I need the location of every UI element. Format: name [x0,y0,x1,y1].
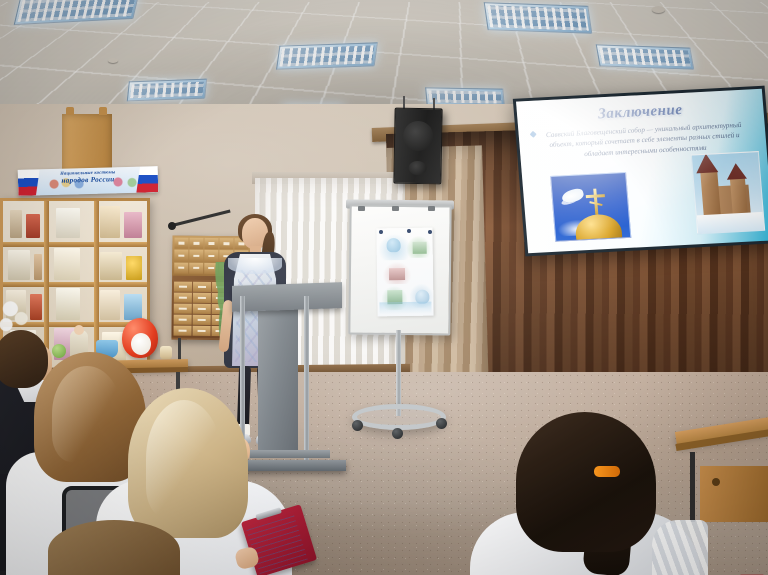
sketch-church [389,268,405,280]
snow-ground [697,212,764,233]
desk-grommet [712,478,720,486]
sketch-dome [387,238,401,252]
catalog-drawer [174,238,188,249]
shelf-item-doll [34,254,42,280]
presentation-slide: Заключение Саввский Благовещенский собор… [516,89,768,253]
shelf-item-card [124,212,142,238]
shelf-item-poster [54,248,80,280]
projection-screen: Заключение Саввский Благовещенский собор… [513,86,768,257]
church-tower-shape [730,177,748,216]
lectern-column [258,308,298,450]
presenter-apron-frill [228,258,282,274]
catalog-drawer [192,326,210,336]
audience-member-5-sleeve [652,520,708,575]
poster-pin [428,230,432,234]
shelf-item-ornament [126,256,142,280]
craft-figure [160,346,172,359]
golden-dome-shape [574,213,623,241]
catalog-drawer [174,282,192,292]
church-roof-shape [726,163,747,180]
catalog-drawer [189,238,203,249]
slide-image-dome [550,172,631,242]
caster-wheel [352,420,363,431]
catalog-drawer [173,326,191,336]
desk-modesty-panel [700,466,768,522]
shelf-item-book [56,208,80,238]
catalog-drawer [174,315,192,325]
catalog-drawer [174,293,192,303]
lectern-foot [250,450,330,458]
microphone-icon [168,222,176,230]
catalog-drawer [193,293,211,303]
watercolour-ground [379,302,431,315]
slide-image-church [691,151,765,234]
audience-member-4-head [48,520,180,575]
desk-leg [690,452,695,522]
shelf-item-book [100,290,120,320]
shelf-item-book [8,250,30,280]
audience-member-1-head [0,330,48,388]
shelf-item-craft [124,294,142,320]
dove-icon [560,187,585,204]
audience-member-2-hair-highlight [52,366,122,462]
lectern-base-plate [234,460,346,471]
shelf-item-doll [10,210,22,238]
catalog-drawer [192,304,210,314]
flipchart-clip [358,206,365,211]
lectern-top [232,282,342,312]
hand-drawn-poster [376,228,433,317]
audience-member-5-hair [516,412,656,552]
sketch-church [413,242,427,254]
caster-wheel [436,418,447,429]
audience-member-3-hair-highlight [146,400,222,518]
craft-ornament [52,344,66,358]
shelf-item-book [56,288,80,320]
lectern-post [304,296,309,468]
orthodox-cross-icon [593,189,598,215]
catalog-drawer [174,262,188,273]
catalog-drawer [189,262,203,273]
flipchart-base [352,404,446,430]
poster-pin [379,230,383,234]
catalog-drawer [204,238,218,249]
catalog-drawer [204,250,218,261]
flipchart-clip [428,206,435,211]
caster-wheel [392,428,403,439]
catalog-drawer [189,250,203,261]
catalog-drawer [192,315,210,325]
shelf-board [3,282,147,287]
catalog-drawer [193,282,211,292]
exhibition-banner: Национальные костюмы народов России [18,166,159,196]
poster-pin [407,229,411,233]
russian-flag-icon [18,169,41,196]
shelf-item-book [100,252,122,280]
church-tower-shape [700,170,721,217]
orange-hair-clip [594,466,620,477]
shelf-board [3,242,147,247]
bullet-icon [530,131,537,138]
craft-matryoshka [122,318,158,358]
catalog-drawer [174,250,188,261]
church-roof-shape [695,153,719,173]
catalog-drawer [174,304,192,314]
flipchart-clip [392,206,399,211]
shelf-item-figure [26,214,40,238]
presentation-room-photo: Заключение Саввский Благовещенский собор… [0,0,768,575]
shelf-item-book [100,206,120,238]
ceiling-speaker-icon [393,108,442,185]
